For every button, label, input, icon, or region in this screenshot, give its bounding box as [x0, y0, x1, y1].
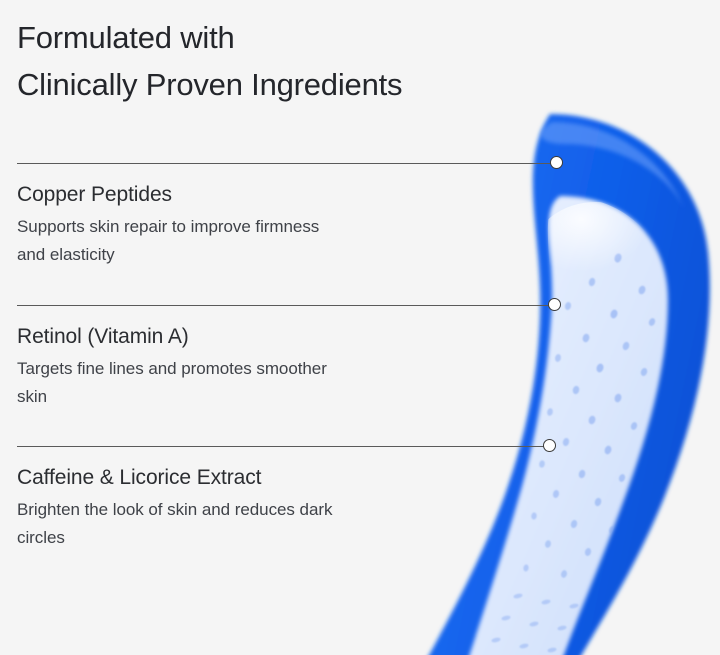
infographic-canvas: Formulated with Clinically Proven Ingred…: [0, 0, 720, 655]
ingredient-text-block: Retinol (Vitamin A) Targets fine lines a…: [17, 322, 417, 411]
ingredient-list: Copper Peptides Supports skin repair to …: [0, 0, 720, 655]
ingredient-title: Retinol (Vitamin A): [17, 322, 417, 352]
ingredient-description: Supports skin repair to improve firmness…: [17, 213, 347, 269]
leader-line: [17, 163, 557, 164]
ingredient-description: Brighten the look of skin and reduces da…: [17, 496, 347, 552]
ingredient-text-block: Caffeine & Licorice Extract Brighten the…: [17, 463, 417, 552]
callout-dot-icon: [548, 298, 561, 311]
ingredient-description: Targets fine lines and promotes smoother…: [17, 355, 347, 411]
ingredient-text-block: Copper Peptides Supports skin repair to …: [17, 180, 417, 269]
leader-line: [17, 305, 555, 306]
leader-line: [17, 446, 550, 447]
ingredient-title: Copper Peptides: [17, 180, 417, 210]
callout-dot-icon: [550, 156, 563, 169]
ingredient-title: Caffeine & Licorice Extract: [17, 463, 417, 493]
callout-dot-icon: [543, 439, 556, 452]
